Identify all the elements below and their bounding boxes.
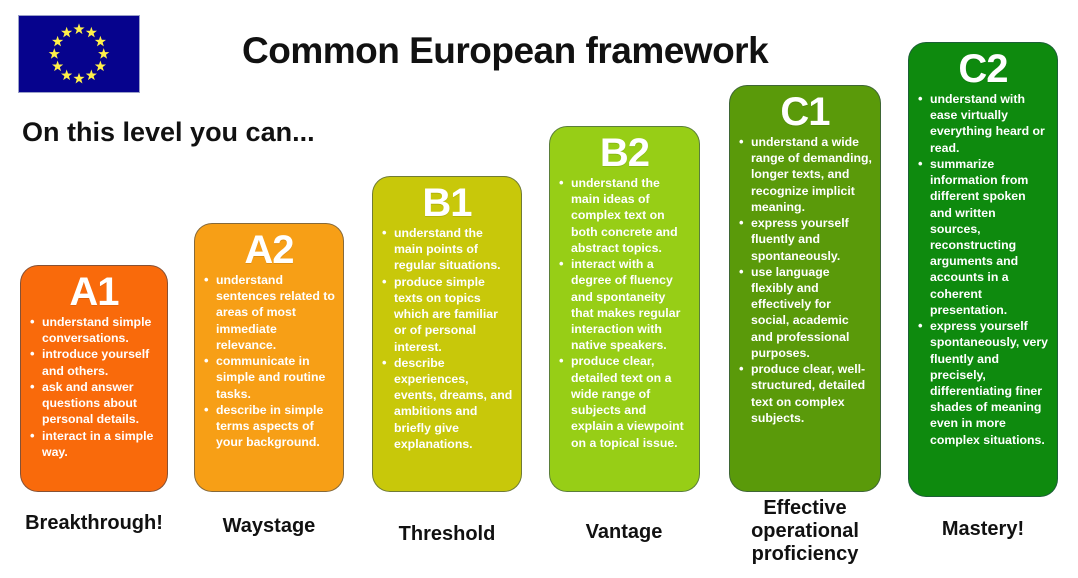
level-code-c1: C1 xyxy=(736,92,874,132)
level-descriptor-list: understand sentences related to areas of… xyxy=(201,272,337,450)
level-card-a2[interactable]: A2understand sentences related to areas … xyxy=(194,223,344,492)
level-card-c1[interactable]: C1understand a wide range of demanding, … xyxy=(729,85,881,492)
cefr-poster: Common European framework On this level … xyxy=(0,0,1078,578)
level-descriptor-item: use language flexibly and effectively fo… xyxy=(738,264,872,361)
level-descriptor-item: understand the main points of regular si… xyxy=(381,225,513,274)
level-code-c2: C2 xyxy=(915,49,1051,89)
level-descriptor-item: express yourself spontaneously, very flu… xyxy=(917,318,1049,448)
eu-flag-icon xyxy=(18,15,140,93)
level-code-a1: A1 xyxy=(27,272,161,312)
level-descriptor-item: interact with a degree of fluency and sp… xyxy=(558,256,691,353)
level-descriptor-item: understand sentences related to areas of… xyxy=(203,272,335,353)
level-descriptor-item: produce clear, well-structured, detailed… xyxy=(738,361,872,426)
page-subtitle: On this level you can... xyxy=(22,117,315,148)
level-caption-a1: Breakthrough! xyxy=(14,512,174,535)
level-descriptor-item: produce clear, detailed text on a wide r… xyxy=(558,353,691,450)
page-title: Common European framework xyxy=(242,30,768,72)
level-code-b1: B1 xyxy=(379,183,515,223)
level-descriptor-list: understand simple conversations.introduc… xyxy=(27,314,161,460)
level-card-a1[interactable]: A1understand simple conversations.introd… xyxy=(20,265,168,492)
level-descriptor-item: ask and answer questions about personal … xyxy=(29,379,159,428)
level-caption-b1: Threshold xyxy=(367,523,527,546)
level-descriptor-item: understand simple conversations. xyxy=(29,314,159,346)
level-descriptor-item: understand a wide range of demanding, lo… xyxy=(738,134,872,215)
level-caption-a2: Waystage xyxy=(189,515,349,538)
level-descriptor-item: express yourself fluently and spontaneou… xyxy=(738,215,872,264)
level-descriptor-list: understand the main points of regular si… xyxy=(379,225,515,452)
level-descriptor-item: understand with ease virtually everythin… xyxy=(917,91,1049,156)
level-descriptor-item: produce simple texts on topics which are… xyxy=(381,274,513,355)
level-caption-c2: Mastery! xyxy=(898,518,1068,541)
level-descriptor-item: describe experiences, events, dreams, an… xyxy=(381,355,513,452)
level-descriptor-item: summarize information from different spo… xyxy=(917,156,1049,318)
level-descriptor-list: understand a wide range of demanding, lo… xyxy=(736,134,874,426)
level-descriptor-item: communicate in simple and routine tasks. xyxy=(203,353,335,402)
level-descriptor-list: understand with ease virtually everythin… xyxy=(915,91,1051,448)
level-descriptor-item: describe in simple terms aspects of your… xyxy=(203,402,335,451)
level-descriptor-item: interact in a simple way. xyxy=(29,428,159,460)
level-descriptor-item: understand the main ideas of complex tex… xyxy=(558,175,691,256)
level-code-b2: B2 xyxy=(556,133,693,173)
level-caption-c1: Effective operational proficiency xyxy=(720,497,890,566)
level-card-c2[interactable]: C2understand with ease virtually everyth… xyxy=(908,42,1058,497)
level-code-a2: A2 xyxy=(201,230,337,270)
level-card-b1[interactable]: B1understand the main points of regular … xyxy=(372,176,522,492)
level-descriptor-item: introduce yourself and others. xyxy=(29,346,159,378)
level-caption-b2: Vantage xyxy=(544,521,704,544)
level-descriptor-list: understand the main ideas of complex tex… xyxy=(556,175,693,451)
level-card-b2[interactable]: B2understand the main ideas of complex t… xyxy=(549,126,700,492)
